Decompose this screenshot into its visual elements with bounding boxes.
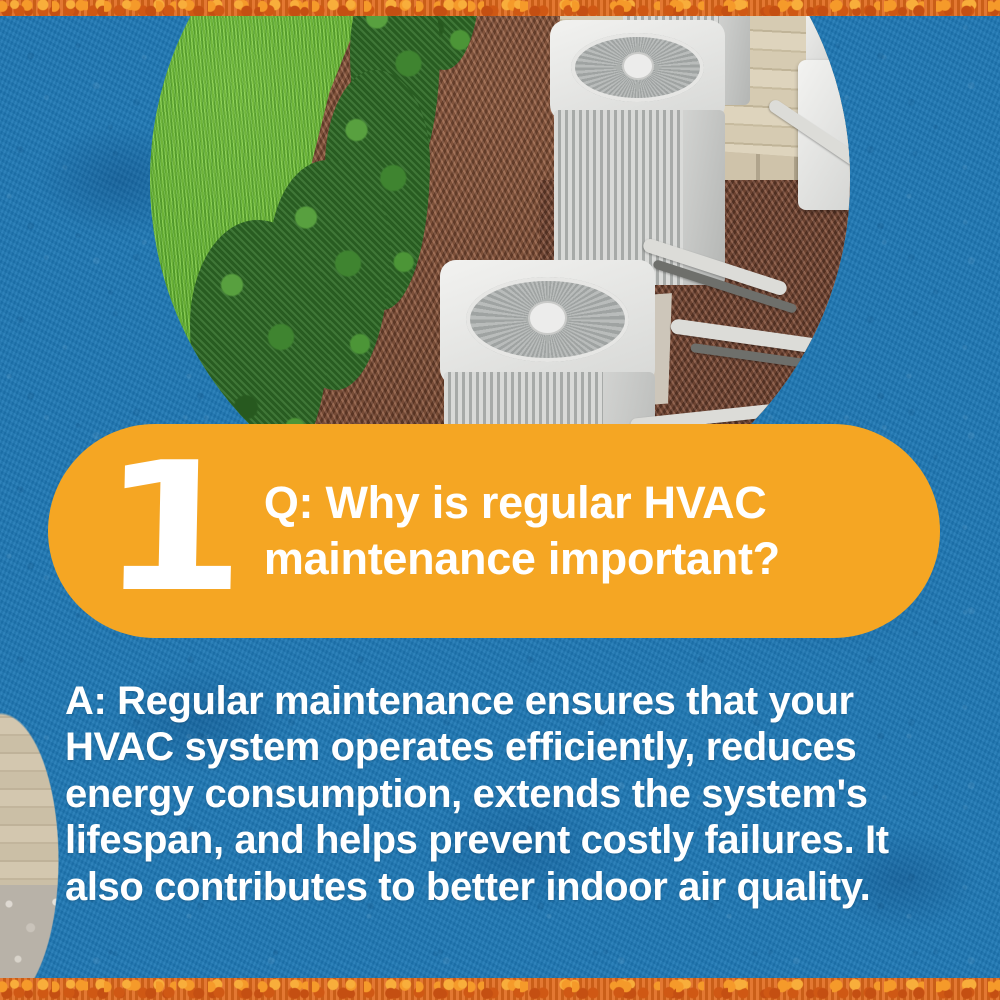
answer-text: A: Regular maintenance ensures that your… (65, 678, 965, 910)
ac-fan-hub (530, 303, 564, 333)
question-banner: 1 Q: Why is regular HVAC maintenance imp… (48, 424, 940, 638)
faq-card: 1 Q: Why is regular HVAC maintenance imp… (0, 0, 1000, 1000)
question-number: 1 (98, 455, 242, 601)
ac-condenser-unit-middle (550, 20, 725, 285)
question-text: Q: Why is regular HVAC maintenance impor… (264, 475, 906, 587)
bottom-orange-strip (0, 978, 1000, 1000)
top-orange-strip (0, 0, 1000, 16)
ac-fan-hub (624, 54, 652, 78)
